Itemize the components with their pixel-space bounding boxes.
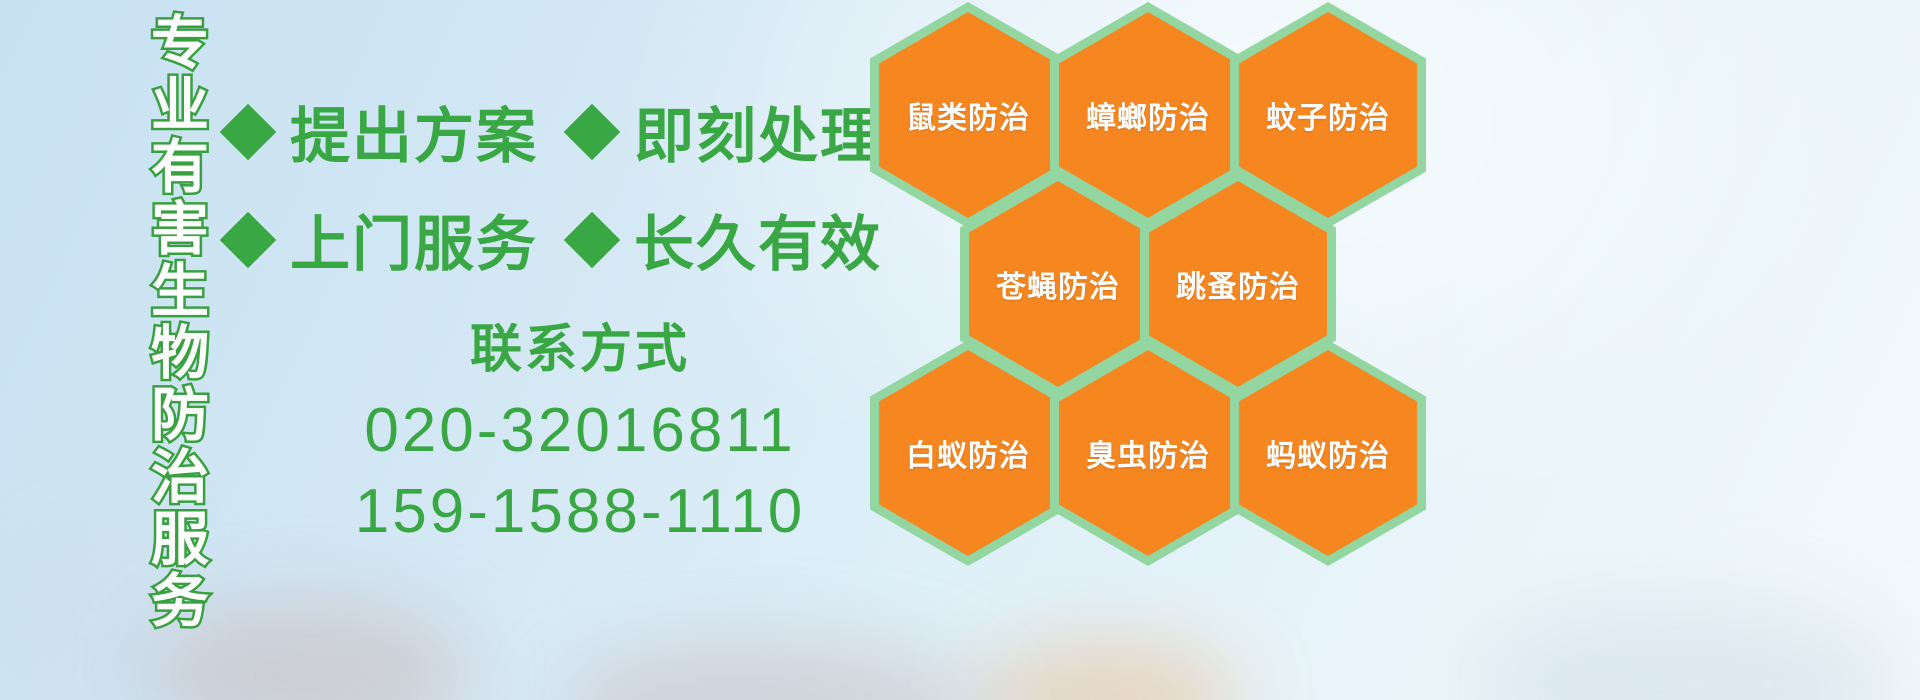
hex-label: 鼠类防治	[906, 93, 1030, 137]
diamond-bullet-icon	[564, 211, 621, 268]
feature-item: 长久有效	[572, 196, 882, 283]
hex-label: 蚂蚁防治	[1266, 431, 1390, 475]
diamond-bullet-icon	[220, 103, 277, 160]
hex-label: 跳蚤防治	[1176, 262, 1300, 306]
feature-label: 提出方案	[290, 88, 538, 175]
feature-item: 上门服务	[228, 196, 538, 283]
feature-item: 即刻处理	[572, 88, 882, 175]
service-honeycomb: 鼠类防治 蟑螂防治 蚊子防治 苍蝇防治 跳蚤防治	[860, 0, 1480, 700]
hex-label: 臭虫防治	[1086, 431, 1210, 475]
diamond-bullet-icon	[220, 211, 277, 268]
contact-block: 联系方式 020-32016811 159-1588-1110	[300, 318, 860, 552]
feature-label: 即刻处理	[634, 88, 882, 175]
vertical-headline: 专业有害生物防治服务	[108, 12, 204, 632]
hex-label: 白蚁防治	[906, 431, 1030, 475]
feature-label: 长久有效	[634, 196, 882, 283]
hex-label: 蟑螂防治	[1086, 93, 1210, 137]
background-blur-blob	[1480, 600, 1900, 700]
contact-title: 联系方式	[300, 318, 860, 383]
hex-cell-termite[interactable]: 白蚁防治	[870, 340, 1066, 566]
diamond-bullet-icon	[564, 103, 621, 160]
feature-row-1: 提出方案 即刻处理	[228, 88, 882, 175]
hex-label: 苍蝇防治	[996, 262, 1120, 306]
feature-row-2: 上门服务 长久有效	[228, 196, 882, 283]
promotional-banner: 专业有害生物防治服务 提出方案 即刻处理 上门服务 长久有效 联系方式 020-…	[0, 0, 1920, 700]
feature-label: 上门服务	[290, 196, 538, 283]
phone-number-mobile[interactable]: 159-1588-1110	[300, 472, 860, 553]
hex-label: 蚊子防治	[1266, 93, 1390, 137]
hex-cell-bedbug[interactable]: 臭虫防治	[1050, 340, 1246, 566]
hex-cell-ant[interactable]: 蚂蚁防治	[1230, 340, 1426, 566]
phone-number-landline[interactable]: 020-32016811	[300, 391, 860, 472]
feature-item: 提出方案	[228, 88, 538, 175]
